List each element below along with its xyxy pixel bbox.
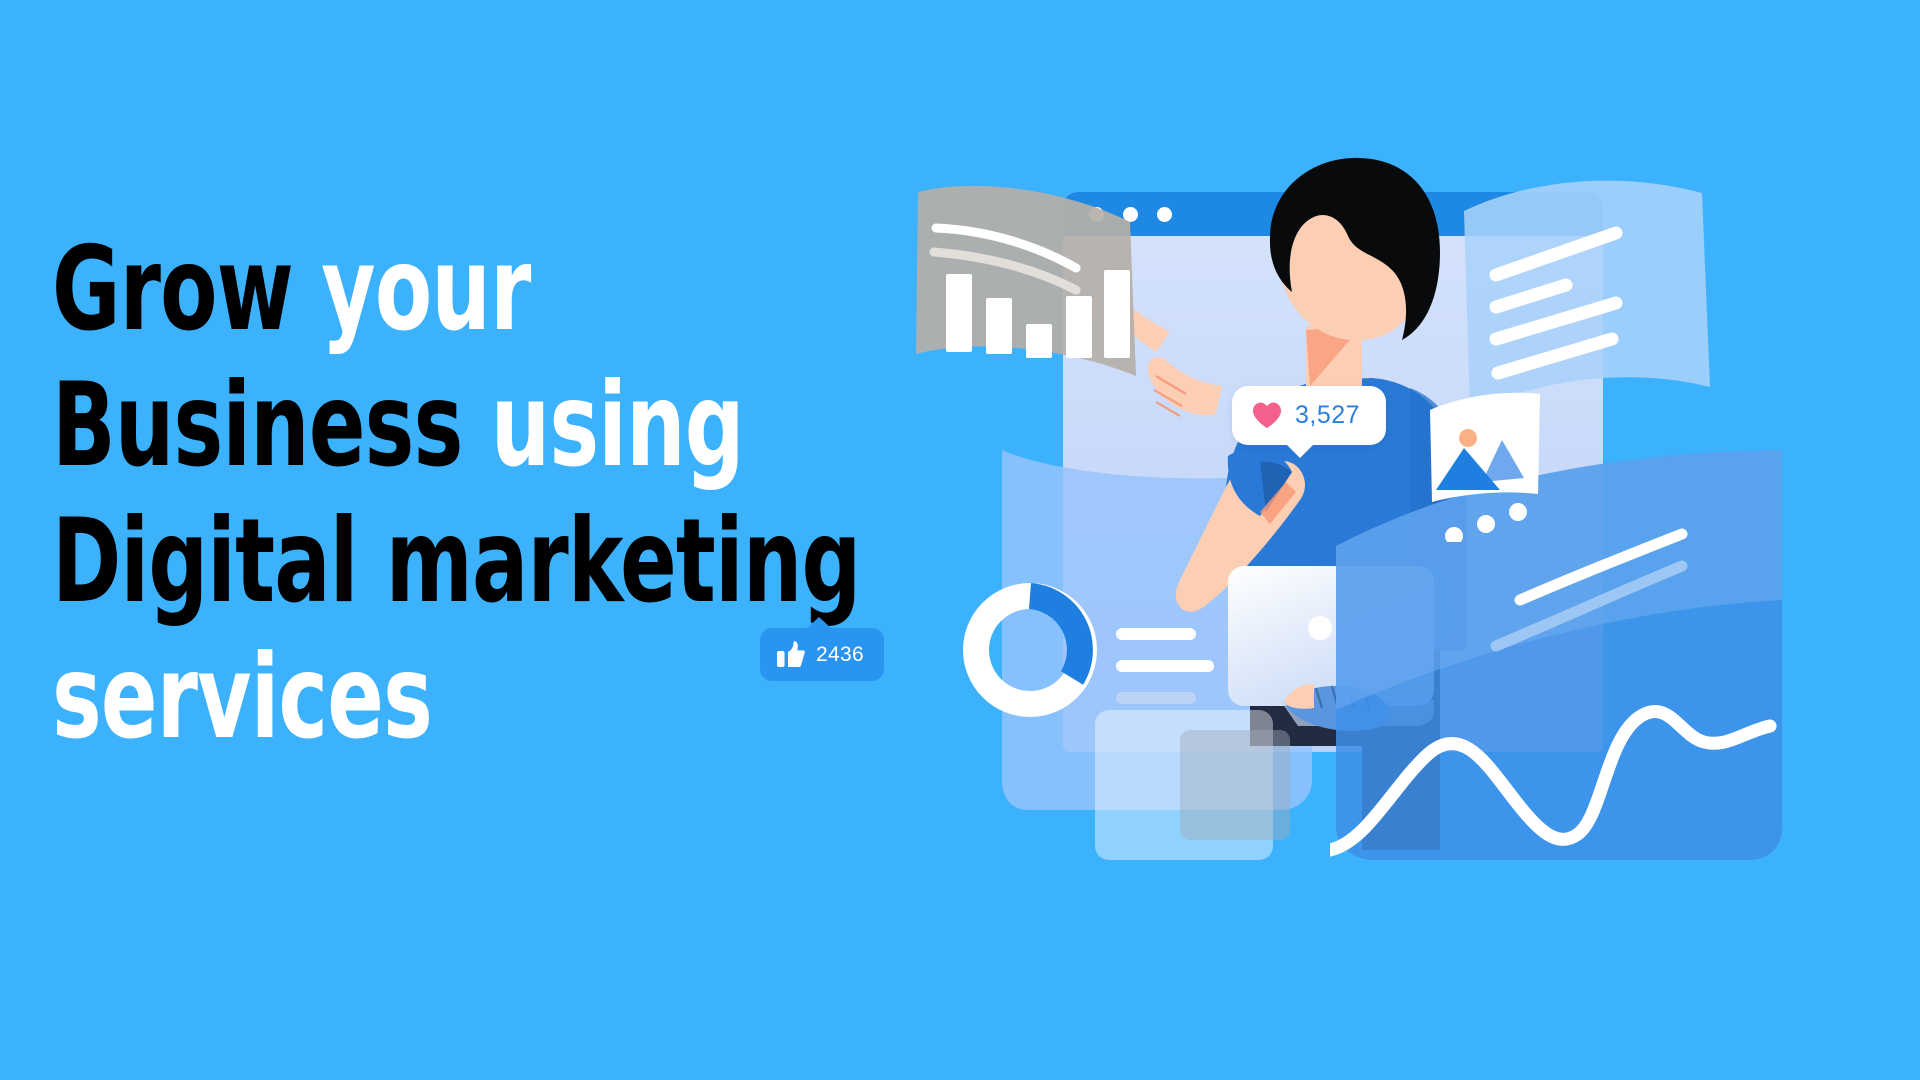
thumbs-up-icon — [777, 641, 805, 668]
marketing-banner: Grow your Business using Digital marketi… — [0, 0, 1920, 1080]
thumbnail-sun-icon — [1459, 429, 1477, 447]
headline-word-using: using — [491, 358, 744, 493]
like-count: 2436 — [816, 643, 864, 667]
page-title: Grow your Business using Digital marketi… — [52, 222, 756, 766]
like-badge[interactable]: 2436 — [760, 628, 884, 681]
headline-line-1: Grow your — [52, 222, 756, 358]
headline-word-services: services — [52, 630, 432, 765]
digital-marketing-illustration: 2436 3,527 — [930, 150, 1790, 910]
image-placeholder-icon — [1428, 390, 1544, 502]
text-lines-panel — [1460, 175, 1780, 425]
character-hand-pointing — [1148, 357, 1222, 415]
headline-word-digital-marketing: Digital marketing — [52, 494, 860, 629]
headline-word-your: your — [321, 222, 530, 357]
heart-badge[interactable]: 3,527 — [1232, 386, 1386, 445]
line-graph-panel — [1330, 450, 1790, 870]
heart-count: 3,527 — [1295, 401, 1360, 430]
heart-icon — [1252, 402, 1282, 429]
translucent-card-grey — [1180, 730, 1290, 840]
headline-line-4: services — [52, 630, 756, 766]
donut-legend-lines — [1122, 634, 1208, 666]
headline-word-grow: Grow — [52, 222, 321, 357]
bar-chart-paper — [912, 178, 1142, 413]
headline-word-business: Business — [52, 358, 491, 493]
headline-line-3: Digital marketing — [52, 494, 756, 630]
headline-line-2: Business using — [52, 358, 756, 494]
decorative-dots — [1424, 502, 1544, 542]
